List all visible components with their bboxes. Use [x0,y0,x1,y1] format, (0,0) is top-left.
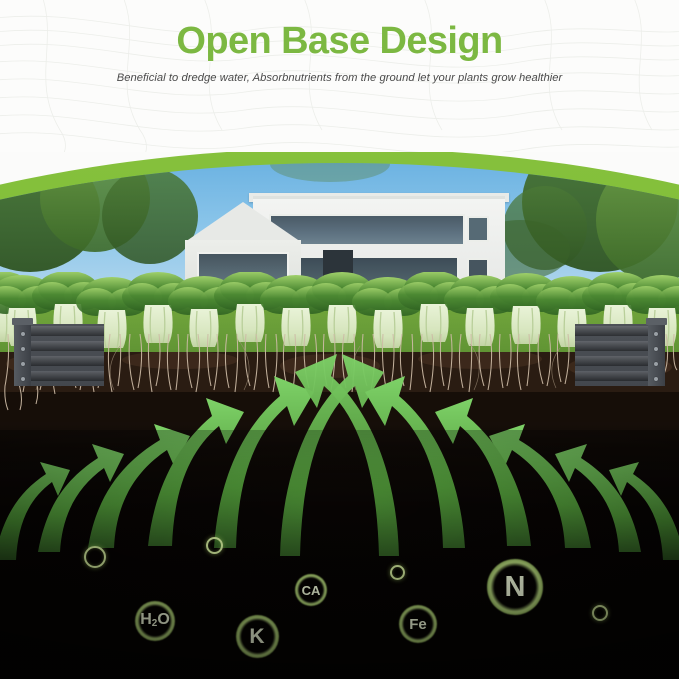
raised-garden-bed-left [14,324,104,386]
planter-bolt [654,332,658,336]
planter-bolt [21,347,25,351]
page-title: Open Base Design [0,22,679,62]
nutrient-bubble-fe: Fe [399,605,437,643]
planter-bolt [654,377,658,381]
planter-post-cap [12,318,33,325]
nutrient-bubble-n: N [487,559,543,615]
nutrient-ring-empty [206,537,223,554]
nutrient-label: K [249,626,264,647]
nutrient-label: N [505,573,526,602]
house-gable-roof [185,202,301,242]
planter-bolt [21,362,25,366]
planter-bolt [654,347,658,351]
nutrient-label: Fe [409,617,427,632]
header: Open Base Design Beneficial to dredge wa… [0,0,679,152]
nutrient-bubble-ca: CA [295,574,327,606]
house-right-upper-window [467,216,489,242]
nutrient-label: CA [302,584,321,597]
page-subtitle: Beneficial to dredge water, Absorbnutrie… [0,72,679,84]
soil-cross-section [0,352,679,679]
planter-bolt [654,362,658,366]
planter-corner-post [648,318,665,386]
nutrient-ring-empty [592,605,608,621]
planter-corner-post [14,318,31,386]
raised-garden-bed-right [575,324,665,386]
nutrient-ring-empty [84,546,106,568]
nutrient-bubble-k: K [236,615,279,658]
nutrient-ring-empty [390,565,405,580]
nutrient-bubble-h2o: H2O [135,601,175,641]
nutrient-label: H2O [140,612,170,629]
planter-bolt [21,332,25,336]
planter-bolt [21,377,25,381]
infographic-canvas: H2OKCAFeN Open Base [0,0,679,679]
planter-post-cap [646,318,667,325]
